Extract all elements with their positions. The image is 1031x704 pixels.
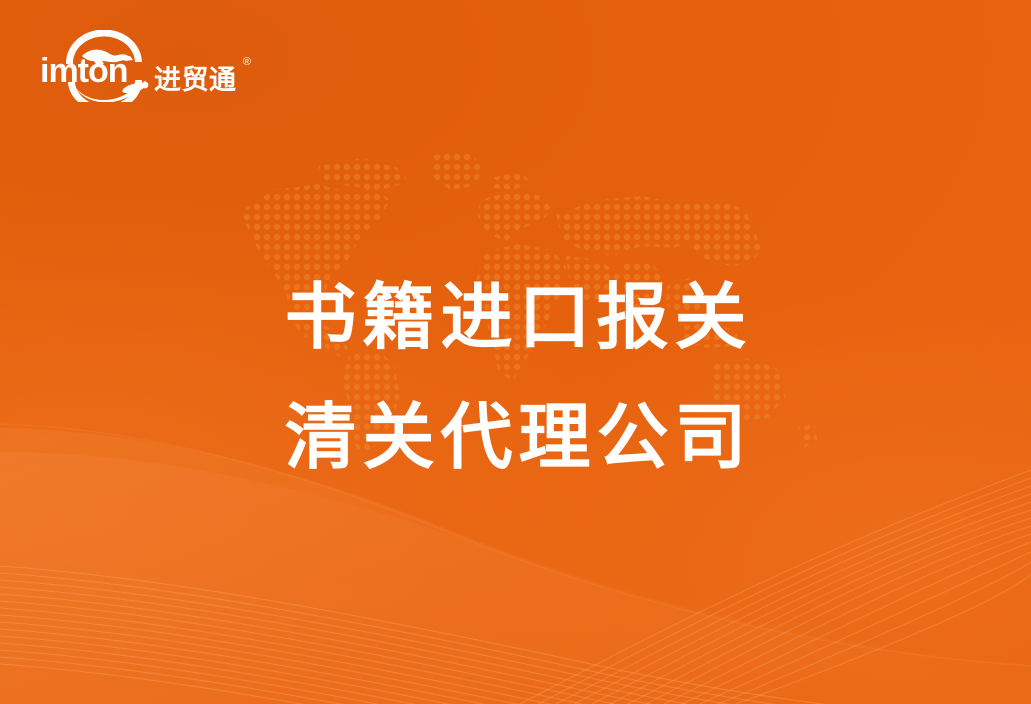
svg-text:imton: imton bbox=[40, 52, 128, 90]
globe-logo-icon: imton bbox=[38, 30, 162, 102]
headline-block: 书籍进口报关 清关代理公司 bbox=[0, 258, 1031, 498]
trademark-symbol: ® bbox=[243, 57, 252, 68]
headline-line-2: 清关代理公司 bbox=[0, 378, 1031, 498]
headline-line-1: 书籍进口报关 bbox=[0, 258, 1031, 378]
promotional-banner: imton 进贸通 ® 书籍进口报关 清关代理公司 bbox=[0, 0, 1031, 704]
brand-chinese-label: 进贸通 ® bbox=[154, 67, 237, 102]
brand-logo[interactable]: imton 进贸通 ® bbox=[38, 30, 238, 102]
brand-chinese-text: 进贸通 bbox=[154, 65, 237, 95]
